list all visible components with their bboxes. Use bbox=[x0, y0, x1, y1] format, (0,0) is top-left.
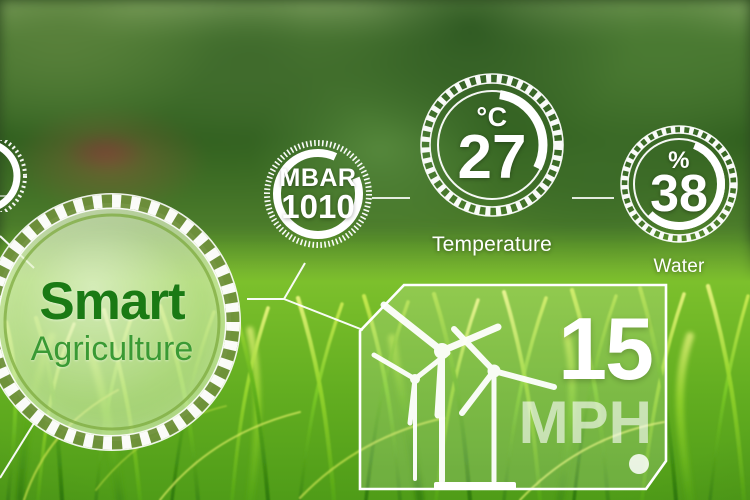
badge-text: Smart Agriculture bbox=[0, 186, 248, 458]
wind-panel-bottom-bar bbox=[434, 482, 516, 490]
gauge-temperature-value: 27 bbox=[458, 129, 527, 186]
wind-speed-unit: MPH bbox=[519, 393, 652, 453]
gauge-pressure[interactable]: MBAR 1010 bbox=[262, 138, 374, 250]
badge-title: Smart bbox=[39, 275, 184, 328]
gauge-temperature[interactable]: °C 27 Temperature bbox=[412, 65, 572, 225]
wind-panel-status-dot bbox=[629, 454, 649, 474]
badge-subtitle: Agriculture bbox=[31, 331, 194, 368]
gauge-pressure-value: 1010 bbox=[281, 192, 354, 222]
gauge-water[interactable]: % 38 Water bbox=[613, 118, 745, 250]
dashboard-stage: MBAR 1010 °C 27 Temperature bbox=[0, 0, 750, 500]
gauge-water-caption: Water bbox=[613, 256, 745, 278]
gauge-water-face: % 38 bbox=[613, 118, 745, 250]
gauge-temperature-caption: Temperature bbox=[412, 233, 572, 257]
wind-speed-value: 15 bbox=[558, 305, 652, 393]
panel-wind-speed[interactable]: 15 MPH bbox=[358, 283, 668, 495]
gauge-pressure-face: MBAR 1010 bbox=[262, 138, 374, 250]
badge-smart-agriculture[interactable]: Smart Agriculture bbox=[0, 186, 248, 458]
gauge-temperature-face: °C 27 bbox=[412, 65, 572, 225]
gauge-water-value: 38 bbox=[650, 171, 708, 219]
